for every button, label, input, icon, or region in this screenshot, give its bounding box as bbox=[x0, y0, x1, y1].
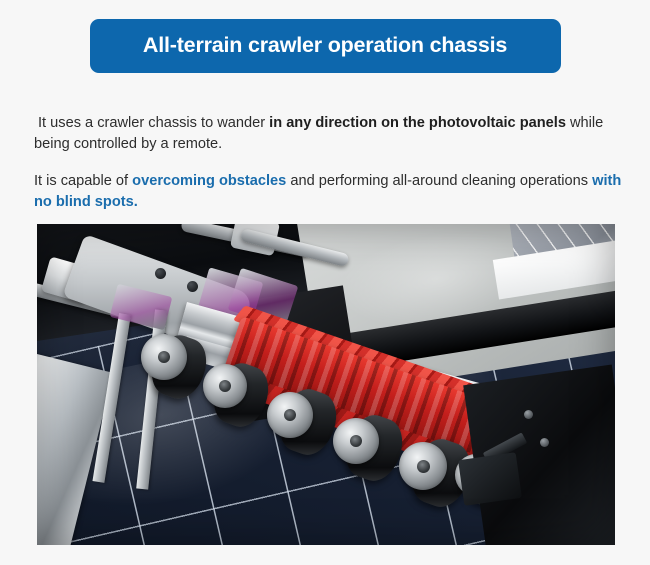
paragraph-one: It uses a crawler chassis to wander in a… bbox=[0, 113, 650, 154]
roller-hub-center-3 bbox=[284, 409, 296, 421]
paragraph-two-text-before: It is capable of bbox=[34, 173, 132, 189]
housing-clamp bbox=[458, 452, 522, 506]
roller-hub-center-1 bbox=[158, 351, 170, 363]
product-photo-scene bbox=[37, 224, 615, 545]
page-title: All-terrain crawler operation chassis bbox=[116, 33, 535, 58]
paragraph-two-text-middle: and performing all-around cleaning opera… bbox=[286, 173, 592, 189]
paragraph-one-bold-phrase: in any direction on the photovoltaic pan… bbox=[269, 115, 566, 131]
title-banner: All-terrain crawler operation chassis bbox=[90, 19, 561, 73]
paragraph-one-text-before: It uses a crawler chassis to wander bbox=[38, 115, 269, 131]
roller-hub-center-5 bbox=[417, 460, 430, 473]
paragraph-two: It is capable of overcoming obstacles an… bbox=[0, 171, 650, 212]
arm-plate-hole-1 bbox=[155, 268, 166, 279]
arm-plate-hole-2 bbox=[187, 281, 198, 292]
description-block: It uses a crawler chassis to wander in a… bbox=[0, 106, 650, 213]
roller-hub-center-2 bbox=[219, 380, 231, 392]
paragraph-two-highlight-one: overcoming obstacles bbox=[132, 173, 286, 189]
roller-hub-center-4 bbox=[350, 435, 362, 447]
housing-bolt-1 bbox=[524, 410, 533, 419]
product-photo bbox=[37, 224, 615, 545]
title-banner-container: All-terrain crawler operation chassis bbox=[0, 0, 650, 100]
housing-bolt-2 bbox=[540, 438, 549, 447]
